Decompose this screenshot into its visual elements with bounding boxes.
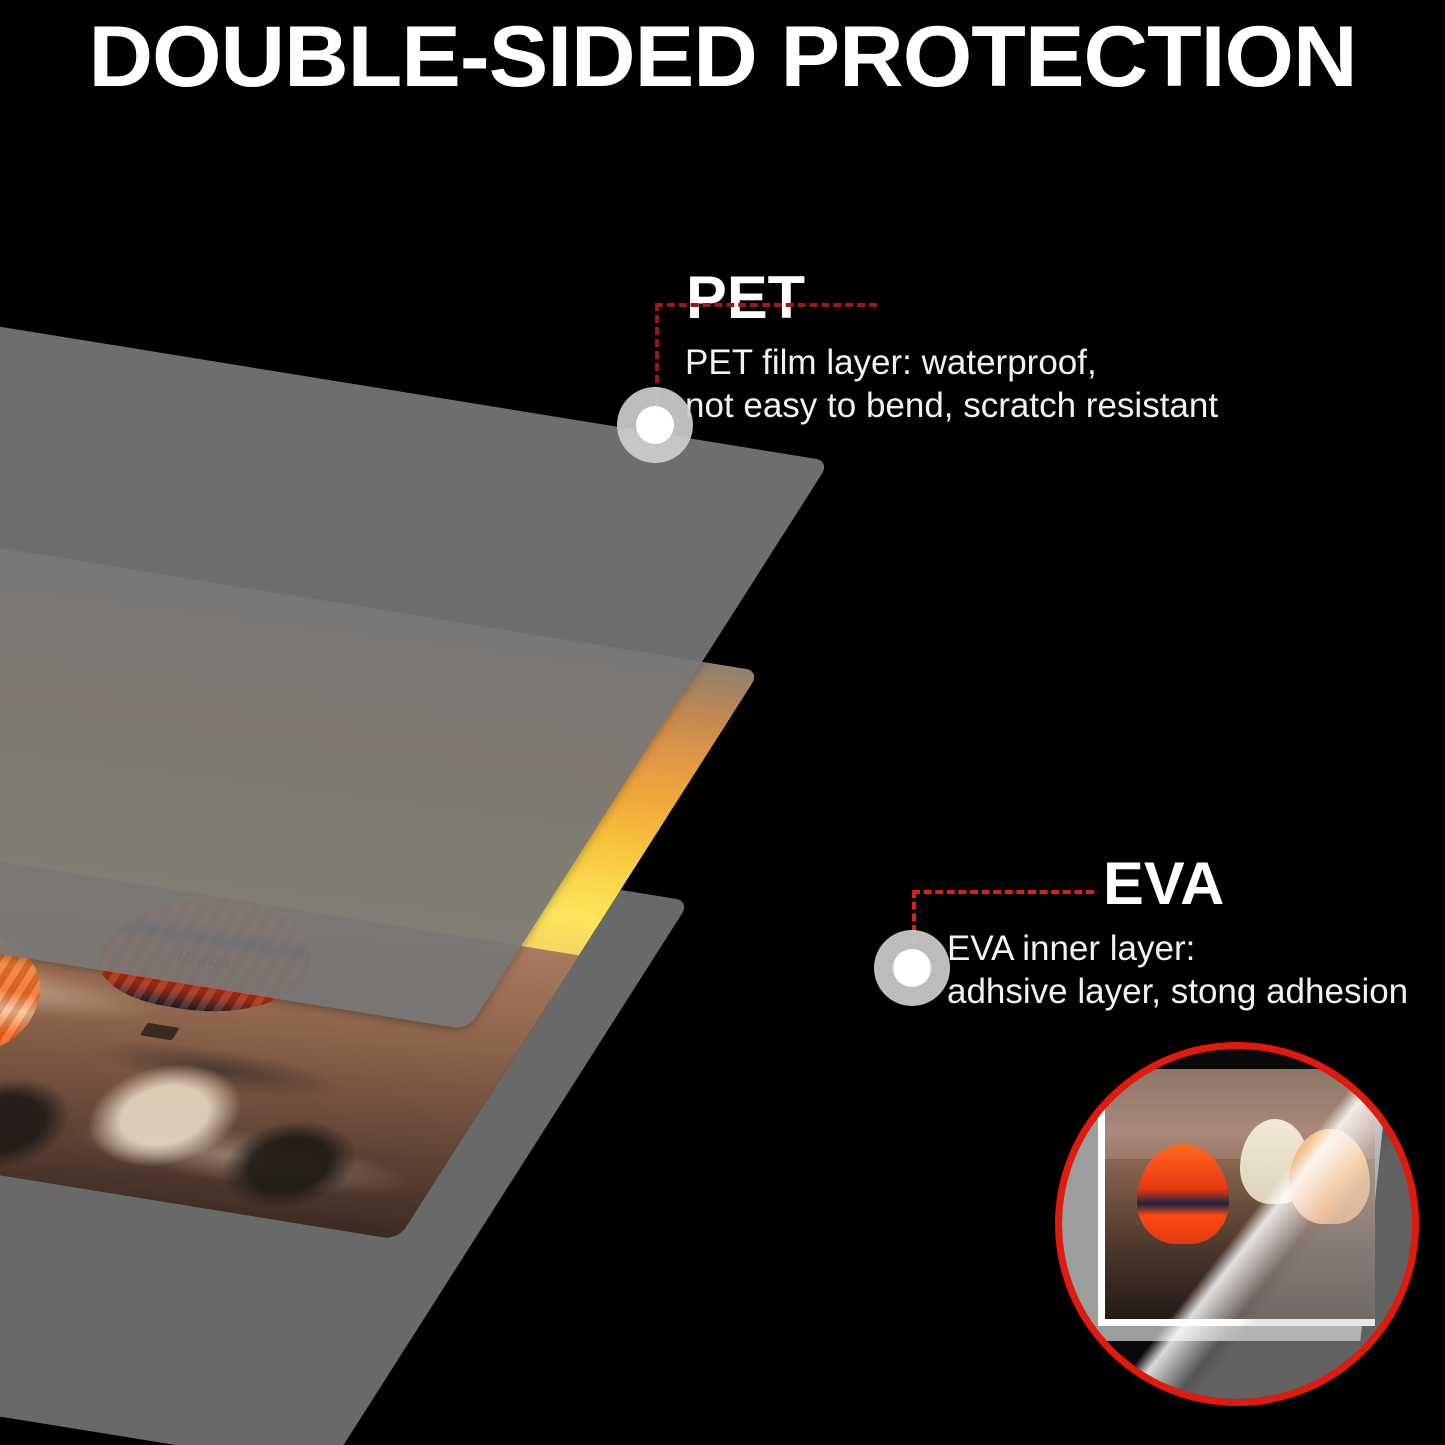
callout-eva: EVA EVA inner layer: adhsive layer, ston… xyxy=(1103,854,1408,1013)
callout-eva-description: EVA inner layer: adhsive layer, stong ad… xyxy=(947,928,1408,1013)
callout-pet: PET PET film layer: waterproof, not easy… xyxy=(686,268,1218,427)
page-title: DOUBLE-SIDED PROTECTION xyxy=(0,14,1445,100)
callout-pet-marker-dot-icon xyxy=(617,387,693,463)
callout-eva-heading: EVA xyxy=(1103,854,1414,914)
callout-pet-heading: PET xyxy=(686,268,1229,328)
callout-pet-description: PET film layer: waterproof, not easy to … xyxy=(685,342,1218,427)
callout-pet-dash-horizontal xyxy=(655,303,877,307)
product-infographic: DOUBLE-SIDED PROTECTION xyxy=(0,0,1445,1445)
detail-zoom-content xyxy=(1055,1042,1419,1406)
detail-zoom-inset xyxy=(1055,1042,1419,1406)
callout-eva-marker-dot-icon xyxy=(874,930,950,1006)
callout-eva-dash-horizontal xyxy=(912,890,1094,894)
inset-balloon-peach xyxy=(1289,1129,1370,1224)
inset-photo xyxy=(1098,1069,1375,1326)
